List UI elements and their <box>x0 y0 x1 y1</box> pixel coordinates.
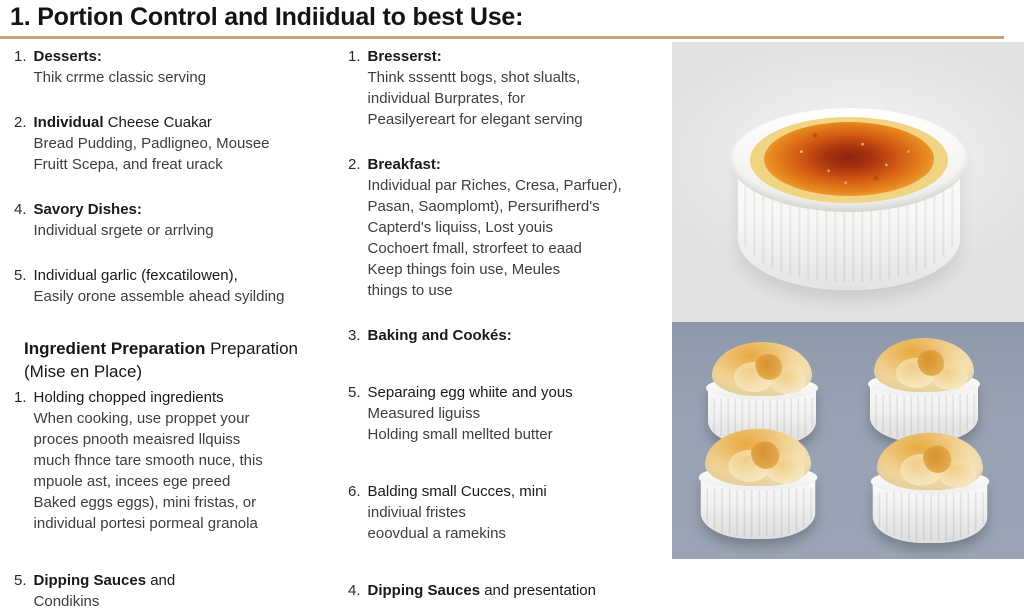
sub-line: indiviual fristes <box>368 502 670 523</box>
section-heading-bold: Ingredient Preparation <box>24 339 205 358</box>
list-item-body: Breakfast: Individual par Riches, Cresa,… <box>368 154 670 301</box>
list-item-lead: Dipping Sauces and presentation <box>368 580 670 601</box>
list-item-body: Separaing egg whiite and yous Measured l… <box>368 382 670 445</box>
list-item: 5. Dipping Sauces and Condikins <box>14 570 344 612</box>
list-item-lead-bold: Bresserst: <box>368 48 442 65</box>
sub-line: When cooking, use proppet your <box>34 408 344 429</box>
section-heading-rest: Preparation <box>205 339 298 358</box>
sub-line: Easily orone assemble ahead syilding <box>34 286 344 307</box>
list-item-number: 5. <box>14 265 34 286</box>
spacer <box>348 558 670 580</box>
title-underline-rule <box>0 36 1004 39</box>
content-columns: 1. Desserts: Thik crrme classic serving … <box>0 46 672 559</box>
list-item-lead-bold: Baking and Cookés: <box>368 327 512 344</box>
list-item-sub: Think sssentt bogs, shot slualts, indivi… <box>368 67 670 130</box>
sub-line: Peasilyereart for elegant serving <box>368 109 670 130</box>
list-item-sub: When cooking, use proppet your proces pn… <box>34 408 344 534</box>
souffle-top <box>877 433 983 490</box>
sub-line: proces pnooth meaisred llquiss <box>34 429 344 450</box>
list-item-number: 4. <box>14 199 34 220</box>
list-item-number: 3. <box>348 325 368 346</box>
list-item-lead-rest: and <box>146 572 175 589</box>
caramel-specks <box>764 122 934 196</box>
section-heading-line2: (Mise en Place) <box>24 360 344 383</box>
sub-line: Think sssentt bogs, shot slualts, <box>368 67 670 88</box>
list-item-sub: Bread Pudding, Padligneo, Mousee Fruitt … <box>34 133 344 175</box>
photo-strip <box>672 42 1024 559</box>
sub-line: mpuole ast, incees ege preed <box>34 471 344 492</box>
list-item-sub: Easily orone assemble ahead syilding <box>34 286 344 307</box>
list-item-number: 4. <box>348 580 368 601</box>
list-item-body: Desserts: Thik crrme classic serving <box>34 46 344 88</box>
list-item-lead: Individual Cheese Cuakar <box>34 112 344 133</box>
list-item-body: Balding small Cucces, mini indiviual fri… <box>368 481 670 544</box>
souffle-top <box>705 429 811 486</box>
list-item-sub: Individual par Riches, Cresa, Parfuer), … <box>368 175 670 301</box>
souffle-ramekin <box>864 431 995 550</box>
list-item-number: 1. <box>348 46 368 67</box>
list-item: 4. Savory Dishes: Individual srgete or a… <box>14 199 344 241</box>
list-item: 4. Dipping Sauces and presentation <box>348 580 670 601</box>
sub-line: Cochoert fmall, strorfeet to eaad <box>368 238 670 259</box>
sub-line: Bread Pudding, Padligneo, Mousee <box>34 133 344 154</box>
spacer <box>14 255 344 265</box>
sub-line: Pasan, Saomplomt), Persurifherd's <box>368 196 670 217</box>
list-item-lead-rest: Cheese Cuakar <box>104 114 212 131</box>
sub-line: much fhnce tare smooth nuce, this <box>34 450 344 471</box>
section-heading: Ingredient Preparation Preparation (Mise… <box>24 337 344 383</box>
left-column: 1. Desserts: Thik crrme classic serving … <box>14 46 344 559</box>
list-item-number: 1. <box>14 387 34 408</box>
sub-line: Thik crrme classic serving <box>34 67 344 88</box>
list-item-lead-rest: Separaing egg whiite and yous <box>368 384 573 401</box>
list-item-lead-rest: Individual garlic (fexcatilowen), <box>34 267 238 284</box>
souffle-top <box>874 338 974 392</box>
souffle-ramekin <box>692 427 823 546</box>
ramekin-illustration <box>724 78 974 296</box>
list-item-lead: Desserts: <box>34 46 344 67</box>
list-item: 5. Individual garlic (fexcatilowen), Eas… <box>14 265 344 307</box>
creme-brulee-ramekin-photo <box>672 42 1024 322</box>
list-item-lead: Holding chopped ingredients <box>34 387 344 408</box>
spacer <box>348 144 670 154</box>
list-item-sub: Individual srgete or arrlving <box>34 220 344 241</box>
list-item-number: 2. <box>14 112 34 133</box>
list-item: 5. Separaing egg whiite and yous Measure… <box>348 382 670 445</box>
sub-line: Holding small mellted butter <box>368 424 670 445</box>
spacer <box>14 189 344 199</box>
list-item-sub: Condikins <box>34 591 344 612</box>
spacer <box>14 102 344 112</box>
souffle-top <box>712 342 812 396</box>
sub-line: individual portesi pormeal granola <box>34 513 344 534</box>
spacer <box>348 459 670 481</box>
spacer <box>14 548 344 570</box>
list-item-body: Bresserst: Think sssentt bogs, shot slua… <box>368 46 670 130</box>
list-item-number: 5. <box>14 570 34 591</box>
list-item: 2. Individual Cheese Cuakar Bread Puddin… <box>14 112 344 175</box>
list-item-body: Holding chopped ingredients When cooking… <box>34 387 344 534</box>
sub-line: Measured liguiss <box>368 403 670 424</box>
list-item-sub: Measured liguiss Holding small mellted b… <box>368 403 670 445</box>
sub-line: individual Burprates, for <box>368 88 670 109</box>
list-item-body: Individual Cheese Cuakar Bread Pudding, … <box>34 112 344 175</box>
sub-line: Individual srgete or arrlving <box>34 220 344 241</box>
list-item-body: Savory Dishes: Individual srgete or arrl… <box>34 199 344 241</box>
spacer <box>348 315 670 325</box>
spacer <box>348 360 670 382</box>
list-item-sub: Thik crrme classic serving <box>34 67 344 88</box>
document-header: 1. Portion Control and Indiidual to best… <box>0 0 1004 40</box>
list-item-body: Dipping Sauces and presentation <box>368 580 670 601</box>
list-item-lead-bold: Dipping Sauces <box>368 582 481 599</box>
spacer <box>14 321 344 331</box>
list-item-body: Individual garlic (fexcatilowen), Easily… <box>34 265 344 307</box>
sub-line: Fruitt Scepa, and freat urack <box>34 154 344 175</box>
list-item-lead: Baking and Cookés: <box>368 325 670 346</box>
list-item-sub: indiviual fristes eoovdual a ramekins <box>368 502 670 544</box>
list-item-lead-rest: Holding chopped ingredients <box>34 389 224 406</box>
list-item-lead-bold: Individual <box>34 114 104 131</box>
list-item: 6. Balding small Cucces, mini indiviual … <box>348 481 670 544</box>
list-item-lead: Separaing egg whiite and yous <box>368 382 670 403</box>
list-item-number: 6. <box>348 481 368 502</box>
list-item-lead-rest: Balding small Cucces, mini <box>368 483 547 500</box>
sub-line: Capterd's liquiss, Lost youis <box>368 217 670 238</box>
list-item-lead: Savory Dishes: <box>34 199 344 220</box>
ramekin-flutes <box>703 488 813 537</box>
list-item-lead: Breakfast: <box>368 154 670 175</box>
list-item-lead: Individual garlic (fexcatilowen), <box>34 265 344 286</box>
list-item-lead: Balding small Cucces, mini <box>368 481 670 502</box>
list-item: 1. Desserts: Thik crrme classic serving <box>14 46 344 88</box>
sub-line: eoovdual a ramekins <box>368 523 670 544</box>
list-item: 1. Bresserst: Think sssentt bogs, shot s… <box>348 46 670 130</box>
list-item: 3. Baking and Cookés: <box>348 325 670 346</box>
list-item-number: 5. <box>348 382 368 403</box>
list-item: 2. Breakfast: Individual par Riches, Cre… <box>348 154 670 301</box>
list-item-body: Dipping Sauces and Condikins <box>34 570 344 612</box>
list-item-lead: Dipping Sauces and <box>34 570 344 591</box>
list-item-body: Baking and Cookés: <box>368 325 670 346</box>
list-item-lead-bold: Breakfast: <box>368 156 441 173</box>
sub-line: Condikins <box>34 591 344 612</box>
four-souffle-ramekins-photo <box>672 322 1024 559</box>
list-item-number: 1. <box>14 46 34 67</box>
list-item-lead-rest: and presentation <box>480 582 596 599</box>
list-item-number: 2. <box>348 154 368 175</box>
right-column: 1. Bresserst: Think sssentt bogs, shot s… <box>348 46 670 559</box>
sub-line: Keep things foin use, Meules <box>368 259 670 280</box>
sub-line: things to use <box>368 280 670 301</box>
sub-line: Individual par Riches, Cresa, Parfuer), <box>368 175 670 196</box>
list-item-lead-bold: Dipping Sauces <box>34 572 147 589</box>
sub-line: Baked eggs eggs), mini fristas, or <box>34 492 344 513</box>
ramekin-flutes <box>875 492 985 541</box>
page-title: 1. Portion Control and Indiidual to best… <box>10 3 523 32</box>
list-item-lead-bold: Savory Dishes: <box>34 201 142 218</box>
list-item-lead-bold: Desserts: <box>34 48 102 65</box>
list-item-lead: Bresserst: <box>368 46 670 67</box>
list-item: 1. Holding chopped ingredients When cook… <box>14 387 344 534</box>
